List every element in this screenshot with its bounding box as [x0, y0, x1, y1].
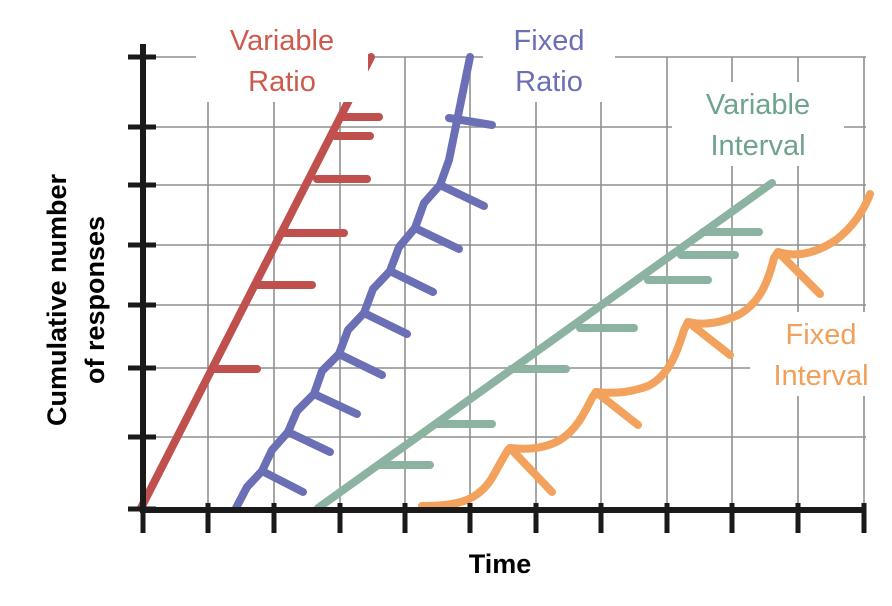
- variable-ratio-label-line2: Ratio: [248, 66, 316, 98]
- fixed-ratio-label-line1: Fixed: [514, 25, 585, 57]
- fixed-interval-label-line2: Interval: [773, 360, 868, 392]
- y-axis-title: Cumulative number of responses: [42, 173, 110, 426]
- cumulative-record-chart: Variable Ratio Fixed Ratio Variable Inte…: [0, 0, 892, 606]
- chart-figure: Variable Ratio Fixed Ratio Variable Inte…: [0, 0, 892, 606]
- variable-interval-label-line1: Variable: [706, 89, 810, 121]
- fixed-interval-label-line1: Fixed: [786, 319, 857, 351]
- series-variable-ratio: [141, 57, 379, 508]
- y-axis-title-line2: of responses: [80, 216, 110, 384]
- series-variable-interval: [318, 183, 772, 508]
- y-axis-title-line1: Cumulative number: [42, 173, 72, 426]
- x-axis-title: Time: [469, 549, 532, 579]
- variable-ratio-label-line1: Variable: [230, 25, 334, 57]
- fixed-ratio-label-line2: Ratio: [515, 66, 583, 98]
- variable-interval-label-line2: Interval: [710, 130, 805, 162]
